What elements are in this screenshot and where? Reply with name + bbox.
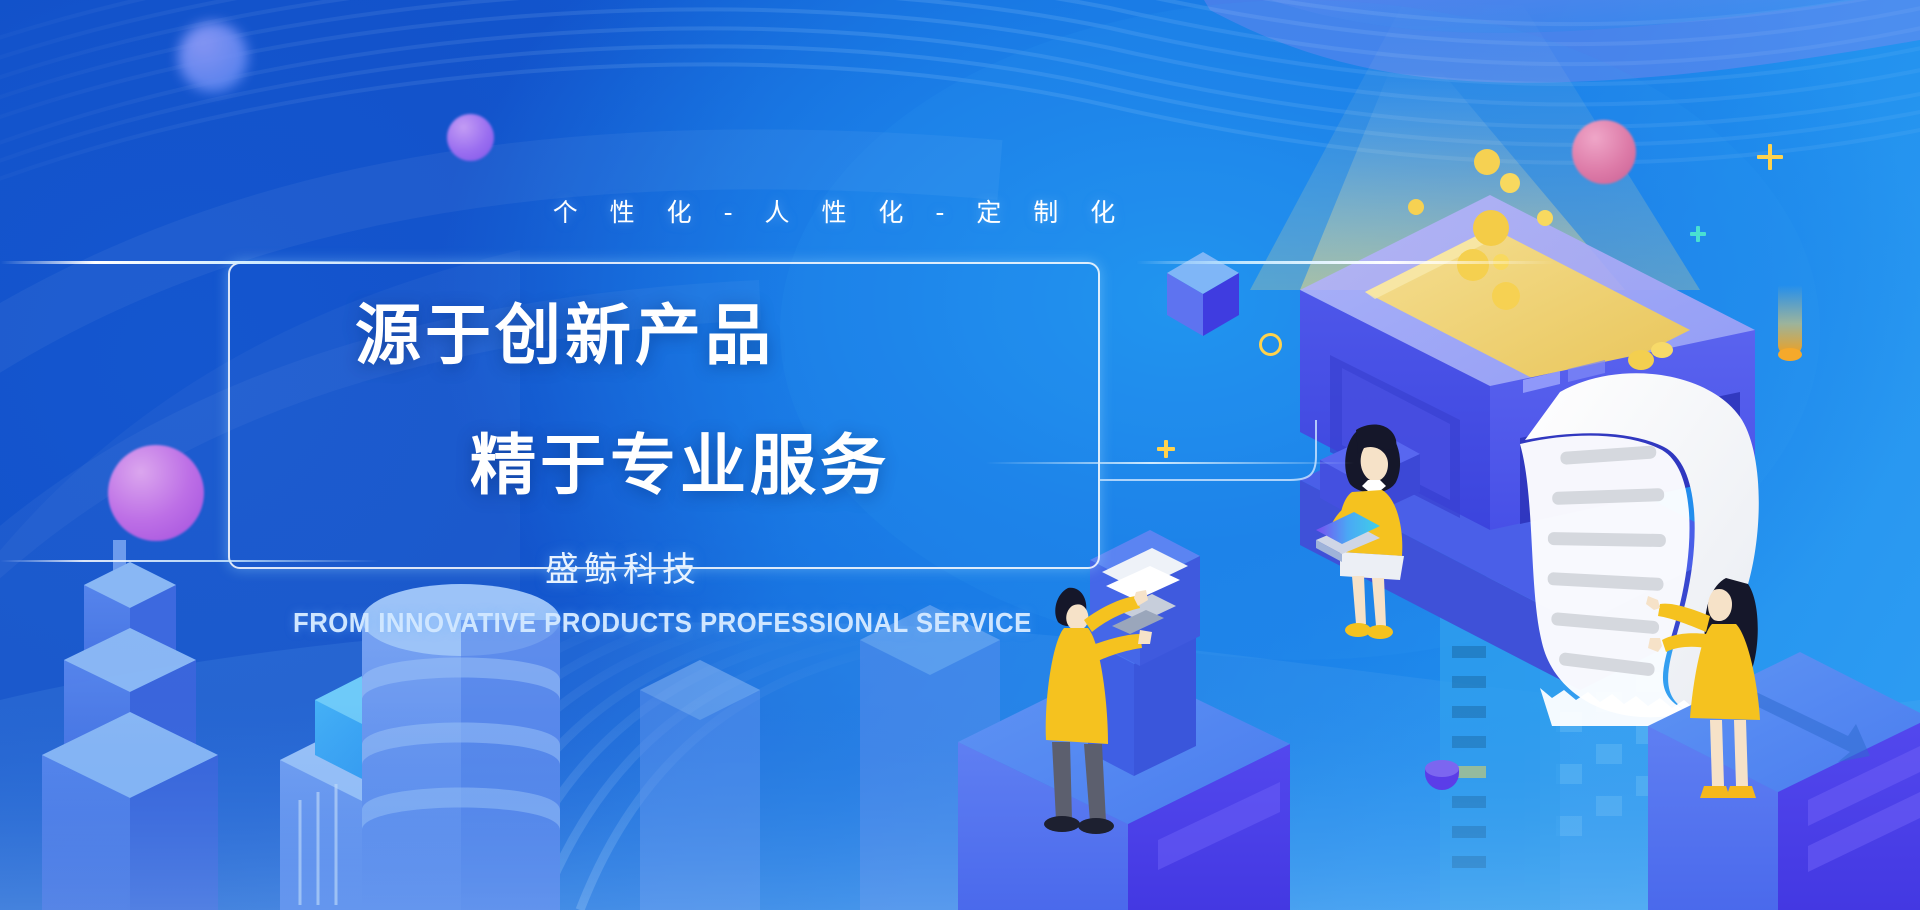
blob-purple-top — [447, 114, 494, 161]
ring-yellow-icon — [1259, 333, 1282, 356]
kiosk-platform — [958, 662, 1290, 910]
printed-paper-roll — [1520, 373, 1759, 726]
connector-line — [1100, 420, 1316, 480]
kiosk-terminal — [1088, 530, 1200, 776]
tagline-top: 个 性 化 - 人 性 化 - 定 制 化 — [0, 193, 1800, 229]
background-bottom-rays — [0, 0, 1920, 910]
woman-with-laptop — [1316, 425, 1404, 639]
glow-line-bottom-left — [0, 560, 380, 562]
blob-pink — [1572, 120, 1636, 184]
isometric-3d-printer — [1300, 195, 1755, 530]
blob-soft-blue — [178, 22, 248, 92]
cross-yellow-large-icon — [1757, 144, 1783, 170]
isometric-cube — [1163, 248, 1243, 340]
man-at-kiosk — [1044, 588, 1152, 834]
headline-line-1: 源于创新产品 — [355, 282, 775, 378]
cross-yellow-small-icon — [1157, 440, 1175, 458]
headline-line-2: 精于专业服务 — [470, 412, 890, 508]
woman-reading-paper — [1646, 578, 1760, 798]
main-isometric-illustration — [0, 0, 1920, 910]
subtitle-english: FROM INNOVATIVE PRODUCTS PROFESSIONAL SE… — [293, 607, 1032, 639]
violet-puck — [1425, 760, 1459, 794]
glow-line-top-left — [0, 261, 430, 264]
orange-tube — [1778, 285, 1802, 355]
blob-purple-left — [108, 445, 204, 541]
company-name: 盛鲸科技 — [545, 542, 701, 591]
glow-line-top-right — [1136, 261, 1556, 264]
floating-gold-particles — [1408, 149, 1553, 310]
light-beam — [1250, 0, 1700, 290]
isometric-city-buildings — [0, 0, 1920, 910]
printer-base-platform — [1300, 402, 1740, 690]
standing-platform — [1640, 648, 1920, 910]
glow-line-mid-right — [985, 462, 1355, 464]
background-wave-lines — [0, 0, 1920, 910]
hero-banner: 个 性 化 - 人 性 化 - 定 制 化 源于创新产品 精于专业服务 盛鲸科技… — [0, 0, 1920, 910]
